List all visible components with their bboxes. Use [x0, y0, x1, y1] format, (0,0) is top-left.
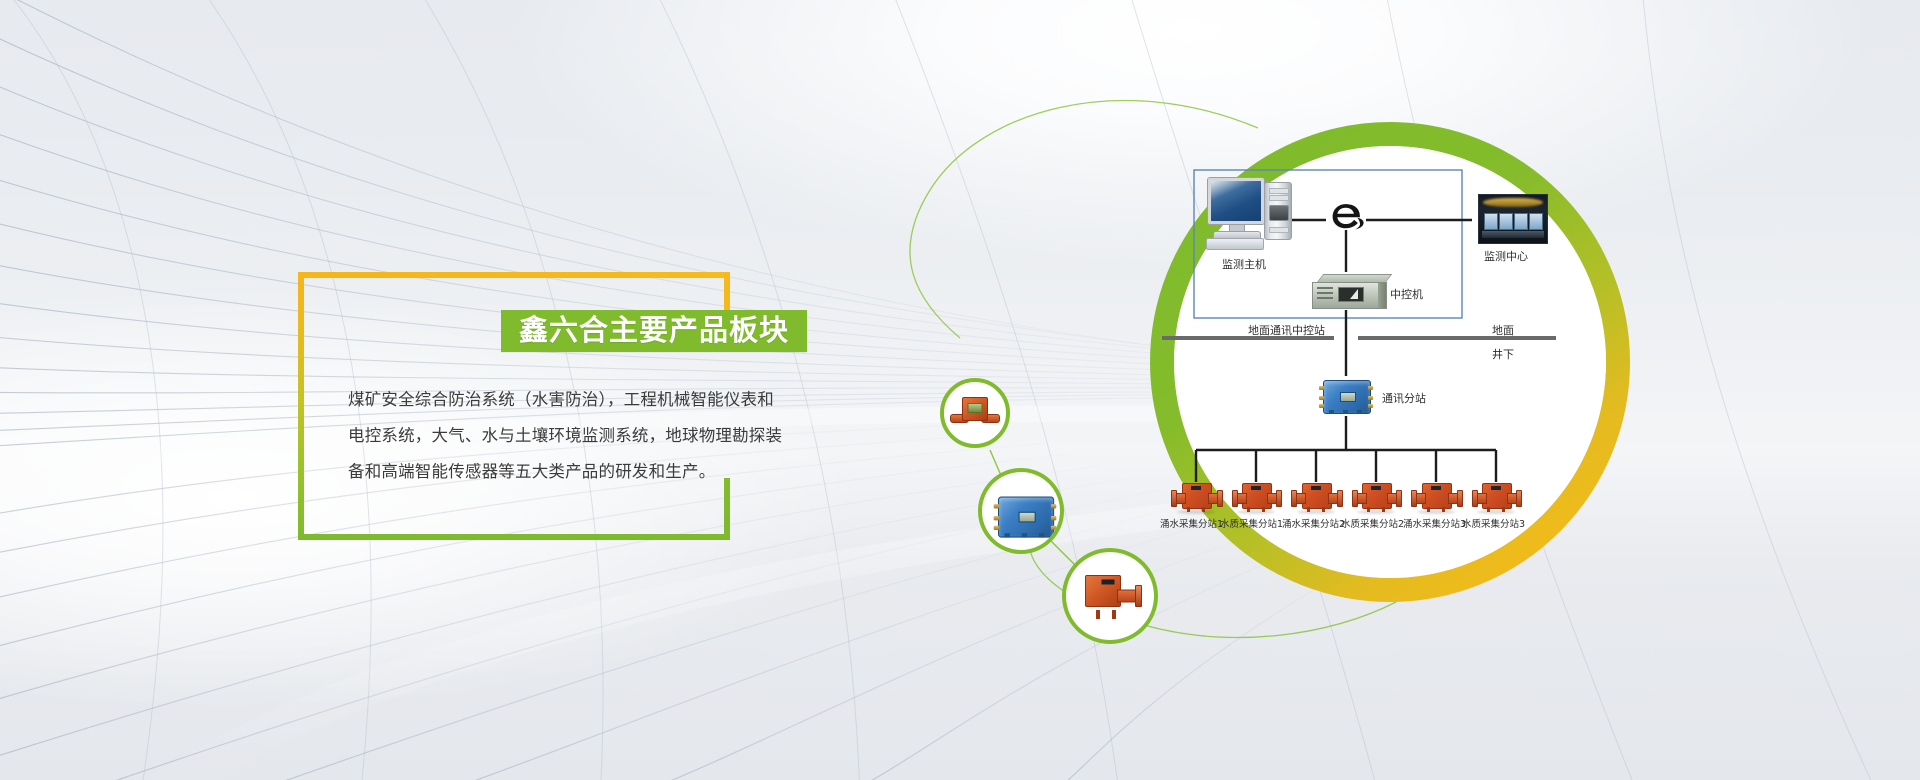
collector-device-3: [1291, 480, 1341, 512]
redbox-flange-left: [1411, 490, 1417, 507]
bluebox-gland-r3: [1368, 404, 1373, 408]
tower-bay-2: [1269, 195, 1289, 201]
center-screen-4: [1529, 213, 1543, 230]
collector-device-1: [1171, 480, 1221, 512]
redbox-flange-right: [1337, 490, 1343, 507]
redbox-flange-left: [1232, 490, 1238, 507]
redbox-leg-1: [1247, 507, 1250, 512]
label-underground: 井下: [1492, 346, 1514, 362]
redbox-leg-2: [1322, 507, 1325, 512]
label-collector-1: 涌水采集分站1: [1160, 516, 1223, 530]
label-collector-5: 涌水采集分站3: [1403, 516, 1466, 530]
server-marker: [1350, 289, 1358, 299]
device-shadow: [1237, 510, 1275, 514]
bubble-1-art: [944, 382, 1006, 444]
redbox-leg-2: [1382, 507, 1385, 512]
junction-gland-r3: [1051, 526, 1056, 530]
label-collector-6: 水质采集分站3: [1462, 516, 1525, 530]
server-vent-1: [1317, 287, 1333, 289]
bluebox-window: [1340, 392, 1356, 402]
collector-leg-1: [1096, 610, 1100, 619]
bubble-2-art: [982, 472, 1060, 550]
pc-tower-icon: [1264, 182, 1292, 240]
collector-label-plate: [1102, 579, 1115, 584]
bluebox-foot-2: [1343, 410, 1348, 414]
redbox-flange-left: [1352, 490, 1358, 507]
redbox-flange-right: [1516, 490, 1522, 507]
collector-device-5: [1411, 480, 1461, 512]
collector-device-4: [1351, 480, 1401, 512]
collector-device-2: [1231, 480, 1281, 512]
collector-device-6: [1471, 480, 1521, 512]
junction-gland-l1: [994, 504, 999, 508]
server-vent-2: [1317, 292, 1333, 294]
monitoring-center-photo: [1478, 194, 1548, 244]
label-collector-2: 水质采集分站1: [1220, 516, 1283, 530]
comm-substation-device: [1319, 378, 1373, 414]
sensor-display: [968, 403, 983, 413]
center-photo-lightbar: [1483, 198, 1543, 207]
junction-gland-l2: [994, 516, 999, 520]
bluebox-gland-r1: [1368, 386, 1373, 390]
redbox-leg-2: [1442, 507, 1445, 512]
bluebox-foot-1: [1329, 410, 1334, 414]
redbox-flange-right: [1396, 490, 1402, 507]
device-shadow: [1357, 510, 1395, 514]
center-screen-2: [1499, 213, 1513, 230]
junction-window: [1019, 512, 1036, 523]
junction-foot-1: [1004, 533, 1009, 537]
center-console-desk: [1482, 231, 1544, 238]
bluebox-foot-3: [1357, 410, 1362, 414]
tower-bay-1: [1269, 188, 1289, 194]
redbox-leg-2: [1502, 507, 1505, 512]
redbox-flange-left: [1472, 490, 1478, 507]
redbox-leg-1: [1367, 507, 1370, 512]
redbox-label-plate: [1431, 486, 1441, 490]
server-side: [1378, 282, 1387, 309]
monitoring-host-device: [1206, 178, 1296, 252]
center-screen-3: [1514, 213, 1528, 230]
junction-box-device: [994, 494, 1057, 537]
device-shadow: [1477, 510, 1515, 514]
redbox-label-plate: [1311, 486, 1321, 490]
banner-stage: 鑫六合主要产品板块 煤矿安全综合防治系统（水害防治），工程机械智能仪表和 电控系…: [0, 0, 1920, 780]
keyboard-icon: [1206, 238, 1264, 250]
bluebox-gland-l1: [1319, 386, 1324, 390]
label-collector-3: 涌水采集分站2: [1282, 516, 1345, 530]
redbox-leg-2: [1262, 507, 1265, 512]
central-control-server: [1312, 274, 1386, 308]
redbox-flange-right: [1276, 490, 1282, 507]
label-ground: 地面: [1492, 322, 1514, 338]
label-monitoring-center: 监测中心: [1484, 248, 1528, 264]
center-screen-1: [1484, 213, 1498, 230]
redbox-leg-1: [1487, 507, 1490, 512]
redbox-label-plate: [1251, 486, 1261, 490]
redbox-flange-left: [1171, 490, 1177, 507]
system-topology-diagram: 监测主机 监测中心 中控机 地面通讯中控站 地面 井下: [1162, 134, 1618, 590]
internet-e-icon: [1333, 204, 1364, 229]
junction-foot-2: [1022, 533, 1027, 537]
redbox-leg-1: [1187, 507, 1190, 512]
bluebox-gland-l3: [1319, 404, 1324, 408]
collector-leg-2: [1112, 610, 1116, 619]
bluebox-gland-r2: [1368, 396, 1373, 400]
server-vent-3: [1317, 297, 1333, 299]
bubble-3-art: [1066, 552, 1154, 640]
label-monitoring-host: 监测主机: [1222, 256, 1266, 272]
redbox-leg-1: [1307, 507, 1310, 512]
label-collector-4: 水质采集分站2: [1341, 516, 1404, 530]
label-central-control: 中控机: [1390, 286, 1423, 302]
device-shadow: [1177, 510, 1215, 514]
redbox-flange-right: [1457, 490, 1463, 507]
tower-drive: [1269, 205, 1289, 221]
device-shadow: [1417, 510, 1455, 514]
redbox-leg-1: [1427, 507, 1430, 512]
product-bubble-sensor[interactable]: [940, 378, 1010, 448]
redbox-label-plate: [1491, 486, 1501, 490]
tower-bay-3: [1269, 227, 1289, 233]
collector-flange: [1135, 585, 1142, 607]
product-bubble-junction-box[interactable]: [978, 468, 1064, 554]
redbox-label-plate: [1371, 486, 1381, 490]
redbox-leg-2: [1202, 507, 1205, 512]
label-surface-station: 地面通讯中控站: [1248, 322, 1325, 338]
product-bubble-collector[interactable]: [1062, 548, 1158, 644]
junction-foot-3: [1039, 533, 1044, 537]
redbox-flange-left: [1291, 490, 1297, 507]
junction-gland-r2: [1051, 516, 1056, 520]
monitor-screen-icon: [1208, 178, 1264, 224]
redbox-flange-right: [1217, 490, 1223, 507]
junction-gland-r1: [1051, 504, 1056, 508]
device-shadow: [1297, 510, 1335, 514]
junction-gland-l3: [994, 526, 999, 530]
bluebox-gland-l2: [1319, 396, 1324, 400]
label-comm-substation: 通讯分站: [1382, 390, 1426, 406]
redbox-label-plate: [1191, 486, 1201, 490]
